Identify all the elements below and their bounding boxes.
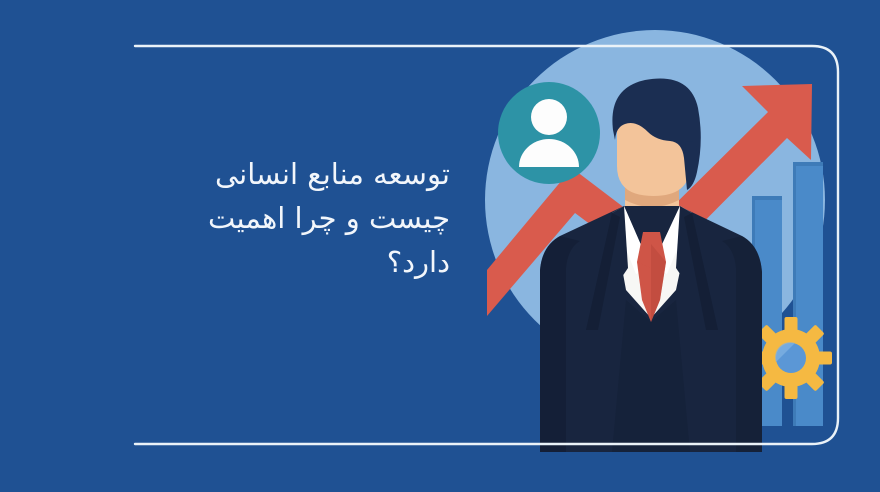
hr-development-illustration	[450, 18, 880, 492]
poster-canvas: توسعه منابع انسانی چیست و چرا اهمیت دارد…	[0, 0, 880, 492]
headline-line-2: چیست و چرا اهمیت	[120, 196, 450, 240]
avatar-head-icon	[531, 99, 567, 135]
gear-icon	[750, 317, 832, 399]
headline-line-1: توسعه منابع انسانی	[120, 152, 450, 196]
user-avatar-badge	[498, 82, 600, 184]
headline-line-3: دارد؟	[120, 240, 450, 284]
page-title: توسعه منابع انسانی چیست و چرا اهمیت دارد…	[120, 152, 450, 284]
